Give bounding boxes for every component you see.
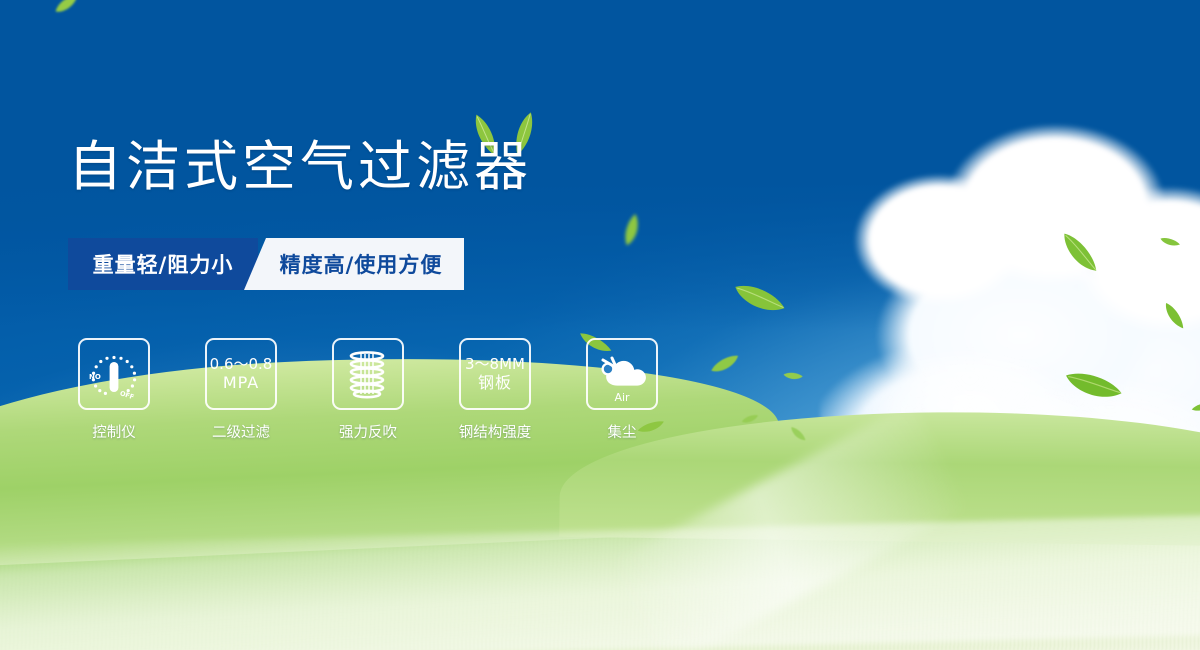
subtitle-right-text: 精度高/使用方便 (266, 249, 443, 279)
feature-icon-box: 3～8MM 钢板 (459, 338, 531, 410)
feature-icon-box: 0.6～0.8 MPA (205, 338, 277, 410)
steel-thickness-text: 3～8MM (465, 356, 525, 373)
feature-item-pressure[interactable]: 0.6～0.8 MPA 二级过滤 (205, 338, 277, 442)
page-title: 自洁式空气过滤器 (68, 140, 532, 194)
gauge-no-text: NO (89, 373, 101, 381)
coil-spring-icon (342, 347, 394, 401)
air-cloud-icon (593, 351, 651, 391)
product-banner: 自洁式空气过滤器 重量轻/阻力小 精度高/使用方便 (0, 0, 1200, 650)
subtitle-left-segment: 重量轻/阻力小 (68, 238, 258, 290)
feature-label: 钢结构强度 (459, 421, 532, 442)
gauge-off-text: OFF (119, 389, 135, 401)
feature-label: 集尘 (608, 421, 637, 442)
feature-label: 二级过滤 (212, 421, 270, 442)
pressure-range-text: 0.6～0.8 (210, 356, 273, 373)
control-gauge-icon: NO OFF (83, 344, 145, 404)
subtitle-left-text: 重量轻/阻力小 (93, 249, 234, 279)
subtitle-right-segment: 精度高/使用方便 (244, 238, 464, 290)
pressure-unit-text: MPA (210, 374, 273, 392)
feature-item-steel[interactable]: 3～8MM 钢板 钢结构强度 (459, 338, 531, 442)
feature-item-blowback[interactable]: 强力反吹 (332, 338, 404, 442)
feature-label: 强力反吹 (339, 421, 397, 442)
steel-material-text: 钢板 (465, 374, 525, 392)
pressure-text-icon: 0.6～0.8 MPA (210, 356, 273, 393)
feature-list: NO OFF 控制仪 0.6～0.8 MPA 二级过滤 (78, 338, 658, 442)
feature-item-control[interactable]: NO OFF 控制仪 (78, 338, 150, 442)
feature-icon-box (332, 338, 404, 410)
leaf-icon (1190, 401, 1200, 413)
steel-plate-text-icon: 3～8MM 钢板 (465, 356, 525, 393)
feature-icon-box: Air (586, 338, 658, 410)
feature-label: 控制仪 (92, 421, 136, 442)
subtitle-bar: 重量轻/阻力小 精度高/使用方便 (68, 238, 464, 290)
air-text: Air (588, 391, 656, 404)
feature-icon-box: NO OFF (78, 338, 150, 410)
